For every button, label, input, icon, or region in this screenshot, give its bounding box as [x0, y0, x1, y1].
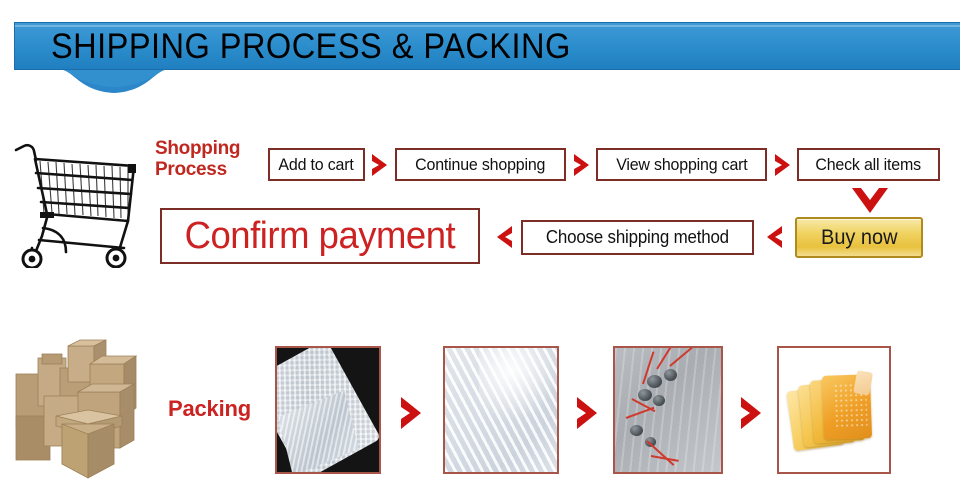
buy-now-button[interactable]: Buy now: [795, 217, 923, 258]
shopping-cart-icon: [6, 128, 146, 268]
step-view-shopping-cart-label: View shopping cart: [616, 155, 747, 175]
step-choose-shipping-method[interactable]: Choose shipping method: [521, 220, 754, 255]
step-confirm-payment[interactable]: Confirm payment: [160, 208, 480, 264]
chevron-right-icon: [572, 153, 594, 177]
shopping-process-label-line2: Process: [155, 159, 265, 180]
step-confirm-payment-label: Confirm payment: [185, 215, 456, 258]
step-continue-shopping[interactable]: Continue shopping: [395, 148, 566, 181]
wrapped-parts-photo: [613, 346, 723, 474]
buy-now-button-label: Buy now: [821, 226, 898, 250]
chevron-right-icon: [773, 153, 795, 177]
chevron-right-icon: [398, 396, 426, 430]
chevron-right-icon: [738, 396, 766, 430]
chevron-left-icon: [762, 224, 784, 250]
cardboard-boxes-icon: [8, 338, 168, 488]
bubble-wrap-roll-photo: [275, 346, 381, 474]
chevron-right-icon: [370, 153, 392, 177]
foam-sheet-photo: [443, 346, 559, 474]
step-choose-shipping-method-label: Choose shipping method: [546, 227, 729, 248]
shopping-process-label: Shopping Process: [155, 138, 265, 180]
page-header-banner: SHIPPING PROCESS & PACKING: [0, 22, 960, 94]
step-check-all-items[interactable]: Check all items: [797, 148, 940, 181]
shopping-process-section: Shopping Process Add to cart Continue sh…: [0, 120, 960, 290]
padded-mailer-envelopes-photo: [777, 346, 891, 474]
chevron-down-icon: [851, 186, 889, 216]
step-continue-shopping-label: Continue shopping: [415, 155, 545, 175]
step-view-shopping-cart[interactable]: View shopping cart: [596, 148, 767, 181]
packing-section: Packing: [0, 330, 960, 502]
chevron-right-icon: [574, 396, 602, 430]
chevron-left-icon: [492, 224, 514, 250]
packing-label: Packing: [168, 396, 251, 422]
step-check-all-items-label: Check all items: [816, 155, 922, 175]
step-add-to-cart[interactable]: Add to cart: [268, 148, 365, 181]
page-title: SHIPPING PROCESS & PACKING: [51, 24, 571, 70]
shopping-process-label-line1: Shopping: [155, 138, 265, 159]
step-add-to-cart-label: Add to cart: [279, 155, 354, 175]
banner-tab-shape: [58, 69, 170, 95]
banner-bar: SHIPPING PROCESS & PACKING: [14, 22, 960, 70]
